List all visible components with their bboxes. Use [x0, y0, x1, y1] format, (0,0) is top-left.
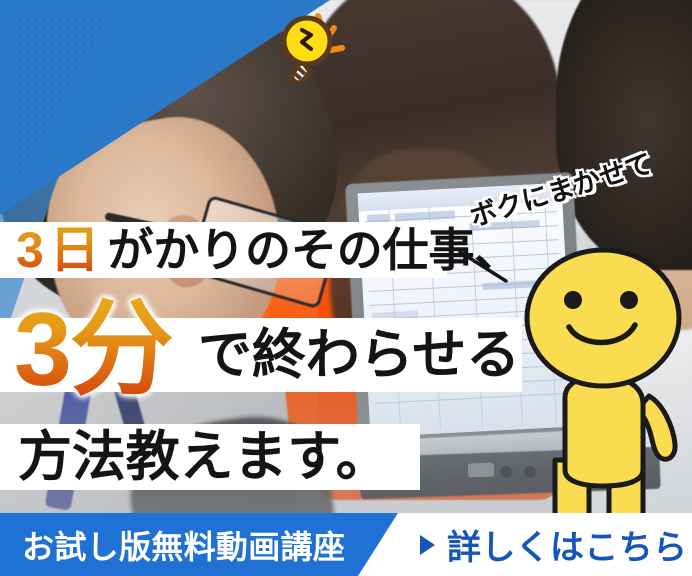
headline-number-2: 3 — [14, 292, 70, 408]
headline-text-2: で終わらせる — [196, 328, 520, 382]
headline-line-1: 3日がかりのその仕事、 — [0, 222, 447, 278]
cta-link[interactable]: 詳しくはこちら — [398, 513, 692, 576]
play-triangle-icon — [420, 535, 435, 555]
headline-unit-2: 分 — [70, 292, 172, 408]
cta-left-panel[interactable]: お試し版無料動画講座 — [0, 513, 398, 576]
mascot-eye-right — [620, 291, 638, 309]
headline-unit-1: 日 — [50, 225, 106, 275]
cta-bar[interactable]: お試し版無料動画講座 詳しくはこちら — [0, 513, 692, 576]
headline-number-1: 3 — [0, 225, 50, 275]
light-bulb-icon — [258, 8, 350, 86]
headline-line-3: 方法教えます。 — [0, 424, 420, 490]
cta-left-label: お試し版無料動画講座 — [0, 522, 345, 568]
headline-text-3: 方法教えます。 — [0, 430, 389, 484]
headline-big-number: 3分 — [14, 298, 172, 402]
mascot-eye-left — [564, 291, 582, 309]
cta-right-label: 詳しくはこちら — [447, 520, 687, 569]
yellow-mascot-character — [497, 228, 692, 540]
promo-banner[interactable]: 3日がかりのその仕事、 で終わらせる 3分 方法教えます。 ボクにまかせて — [0, 0, 692, 576]
